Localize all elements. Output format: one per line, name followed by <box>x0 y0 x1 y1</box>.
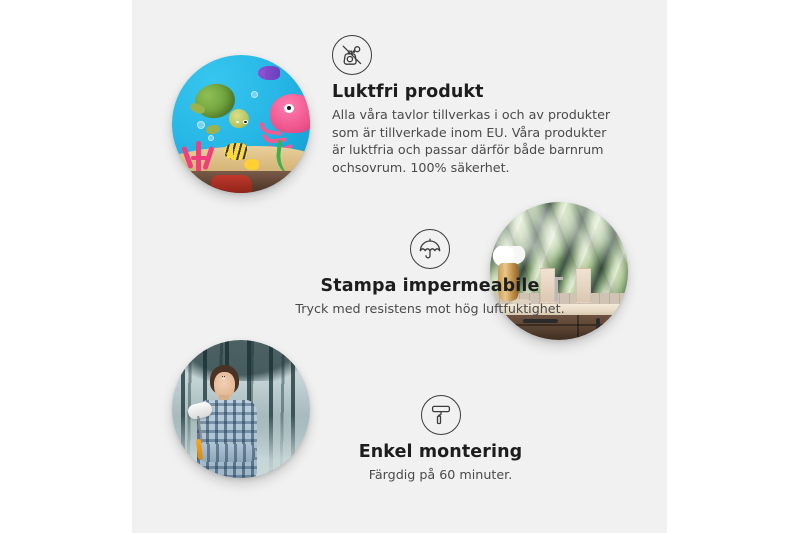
no-odour-perfume-icon <box>332 35 372 75</box>
towel <box>576 268 592 303</box>
coral-illustration <box>180 132 219 173</box>
bubble-icon <box>251 91 258 98</box>
feature-title: Stampa impermeabile <box>284 276 576 297</box>
feature-block-odourless: Luktfri produkt Alla våra tavlor tillver… <box>332 35 622 176</box>
feature-title: Luktfri produkt <box>332 82 622 103</box>
feature-title: Enkel montering <box>332 442 549 463</box>
paint-roller-icon <box>421 395 461 435</box>
small-fish-icon <box>244 159 259 170</box>
feature-body: Färgdig på 60 minuter. <box>332 466 549 484</box>
purple-fish-icon <box>258 66 280 80</box>
feature-body: Tryck med resistens mot hög luftfuktighe… <box>284 300 576 318</box>
cartoon-underwater-scene-photo <box>172 55 310 193</box>
yellow-fish-icon <box>224 143 246 160</box>
turtle-illustration <box>191 84 246 130</box>
woman-painter-illustration <box>191 365 263 478</box>
feature-block-waterproof: Stampa impermeabile Tryck med resistens … <box>284 229 576 318</box>
screenshot-canvas: Luktfri produkt Alla våra tavlor tillver… <box>0 0 800 533</box>
painter-forest-wallpaper-photo <box>172 340 310 478</box>
umbrella-icon <box>410 229 450 269</box>
red-rock <box>211 175 252 193</box>
feature-body: Alla våra tavlor tillverkas i och av pro… <box>332 106 622 176</box>
paint-roller-held <box>186 403 219 462</box>
feature-block-easy-installation: Enkel montering Färgdig på 60 minuter. <box>332 395 549 484</box>
product-feature-panel: Luktfri produkt Alla våra tavlor tillver… <box>132 0 667 533</box>
wood-vanity-cabinet <box>501 315 628 340</box>
